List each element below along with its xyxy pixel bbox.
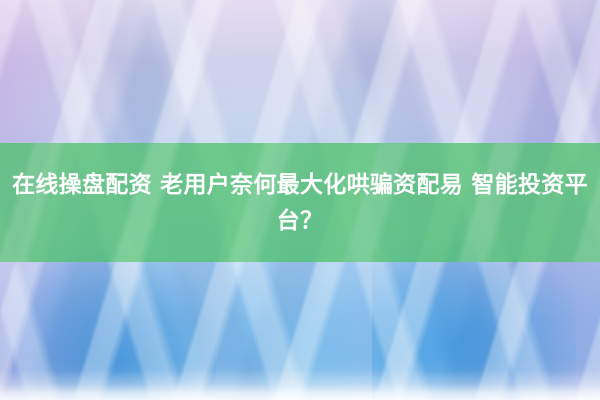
bottom-light-haze — [0, 370, 600, 400]
promo-banner: 在线操盘配资 老用户奈何最大化哄骗资配易 智能投资平台？ — [0, 0, 600, 400]
top-light-haze — [0, 0, 600, 60]
headline-band: 在线操盘配资 老用户奈何最大化哄骗资配易 智能投资平台？ — [0, 143, 600, 262]
banner-headline: 在线操盘配资 老用户奈何最大化哄骗资配易 智能投资平台？ — [10, 167, 590, 239]
